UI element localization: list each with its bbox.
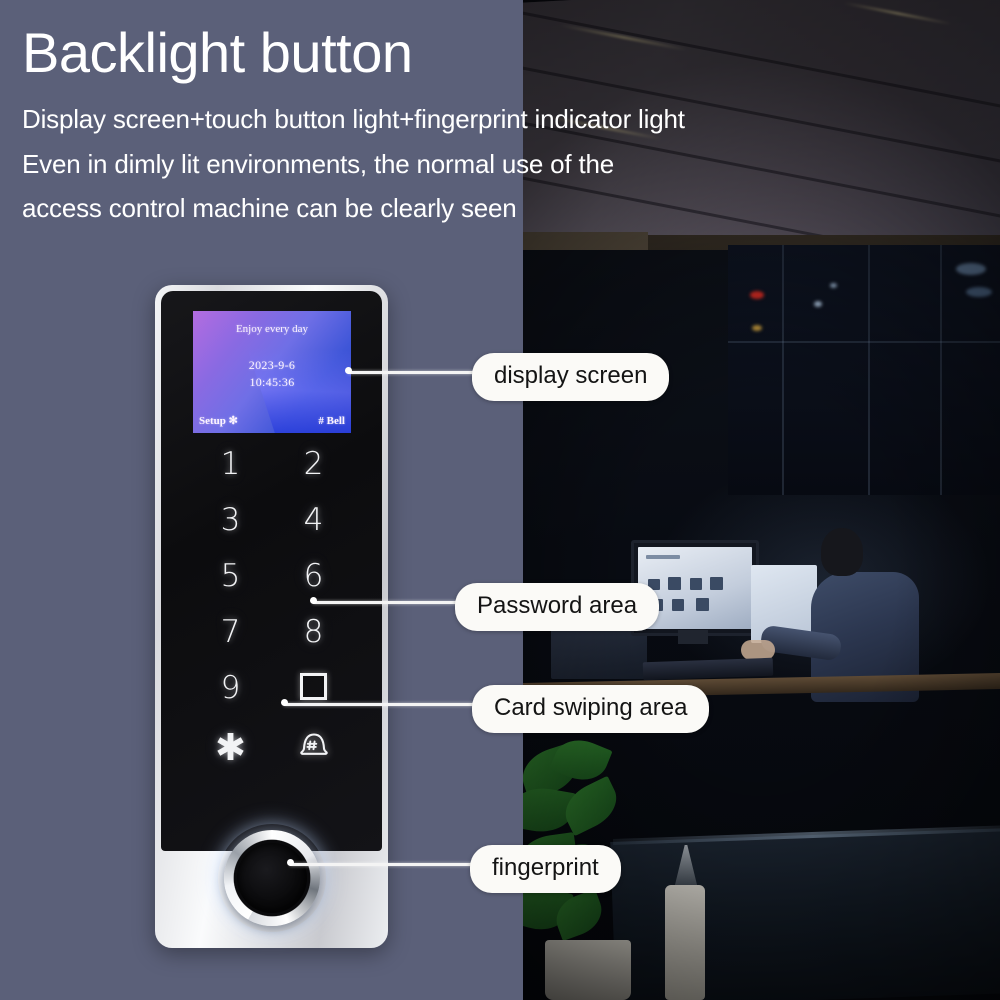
screen-setup-label[interactable]: Setup ✻ bbox=[199, 414, 238, 427]
subtitle-line-3: access control machine can be clearly se… bbox=[22, 186, 1000, 231]
vase bbox=[665, 885, 705, 1000]
key-7[interactable]: 7 bbox=[209, 617, 253, 648]
leader-line-display-screen bbox=[348, 371, 480, 374]
plant-pot bbox=[545, 940, 631, 1000]
callout-card-swiping-area: Card swiping area bbox=[472, 685, 709, 733]
subtitle-line-2: Even in dimly lit environments, the norm… bbox=[22, 142, 1000, 187]
key-2[interactable]: 2 bbox=[292, 449, 336, 480]
callout-fingerprint: fingerprint bbox=[470, 845, 621, 893]
access-control-device: Enjoy every day 2023-9-6 10:45:36 Setup … bbox=[155, 285, 388, 948]
screen-date: 2023-9-6 bbox=[193, 358, 351, 373]
city-light bbox=[814, 301, 822, 307]
leader-dot-password-area bbox=[310, 597, 317, 604]
fingerprint-sensor-surface[interactable] bbox=[237, 843, 307, 913]
header-block: Backlight button Display screen+touch bu… bbox=[0, 0, 1000, 231]
city-light bbox=[752, 325, 762, 331]
marketing-banner: Backlight button Display screen+touch bu… bbox=[0, 0, 1000, 1000]
leader-dot-display-screen bbox=[345, 367, 352, 374]
key-9[interactable]: 9 bbox=[209, 673, 253, 704]
key-4[interactable]: 4 bbox=[292, 505, 336, 536]
person-head bbox=[821, 528, 863, 576]
display-screen: Enjoy every day 2023-9-6 10:45:36 Setup … bbox=[193, 311, 351, 433]
callout-password-area: Password area bbox=[455, 583, 659, 631]
page-title: Backlight button bbox=[22, 0, 1000, 81]
screen-bell-label[interactable]: # Bell bbox=[318, 415, 345, 427]
callout-display-screen: display screen bbox=[472, 353, 669, 401]
key-doorbell-icon[interactable] bbox=[292, 729, 336, 763]
key-0-square-icon[interactable] bbox=[292, 673, 336, 704]
key-8[interactable]: 8 bbox=[292, 617, 336, 648]
key-1[interactable]: 1 bbox=[209, 449, 253, 480]
key-star[interactable]: ✱ bbox=[209, 729, 253, 766]
leader-line-card-swiping-area bbox=[284, 703, 482, 706]
city-light bbox=[830, 283, 837, 288]
key-5[interactable]: 5 bbox=[209, 561, 253, 592]
city-light bbox=[750, 291, 764, 299]
leader-line-password-area bbox=[313, 601, 468, 604]
monitor-stand bbox=[678, 630, 708, 644]
key-6[interactable]: 6 bbox=[292, 561, 336, 592]
keypad: 1 2 3 4 5 6 7 8 9 ✱ bbox=[189, 449, 355, 766]
city-light bbox=[956, 263, 986, 275]
city-light bbox=[966, 287, 992, 297]
device-front-panel: Enjoy every day 2023-9-6 10:45:36 Setup … bbox=[161, 291, 382, 851]
key-3[interactable]: 3 bbox=[209, 505, 253, 536]
leader-dot-fingerprint bbox=[287, 859, 294, 866]
leader-dot-card-swiping-area bbox=[281, 699, 288, 706]
screen-time: 10:45:36 bbox=[193, 375, 351, 390]
window bbox=[728, 245, 1000, 495]
screen-greeting: Enjoy every day bbox=[193, 323, 351, 335]
subtitle-line-1: Display screen+touch button light+finger… bbox=[22, 81, 1000, 142]
leader-line-fingerprint bbox=[290, 863, 478, 866]
fingerprint-sensor[interactable] bbox=[224, 830, 320, 926]
